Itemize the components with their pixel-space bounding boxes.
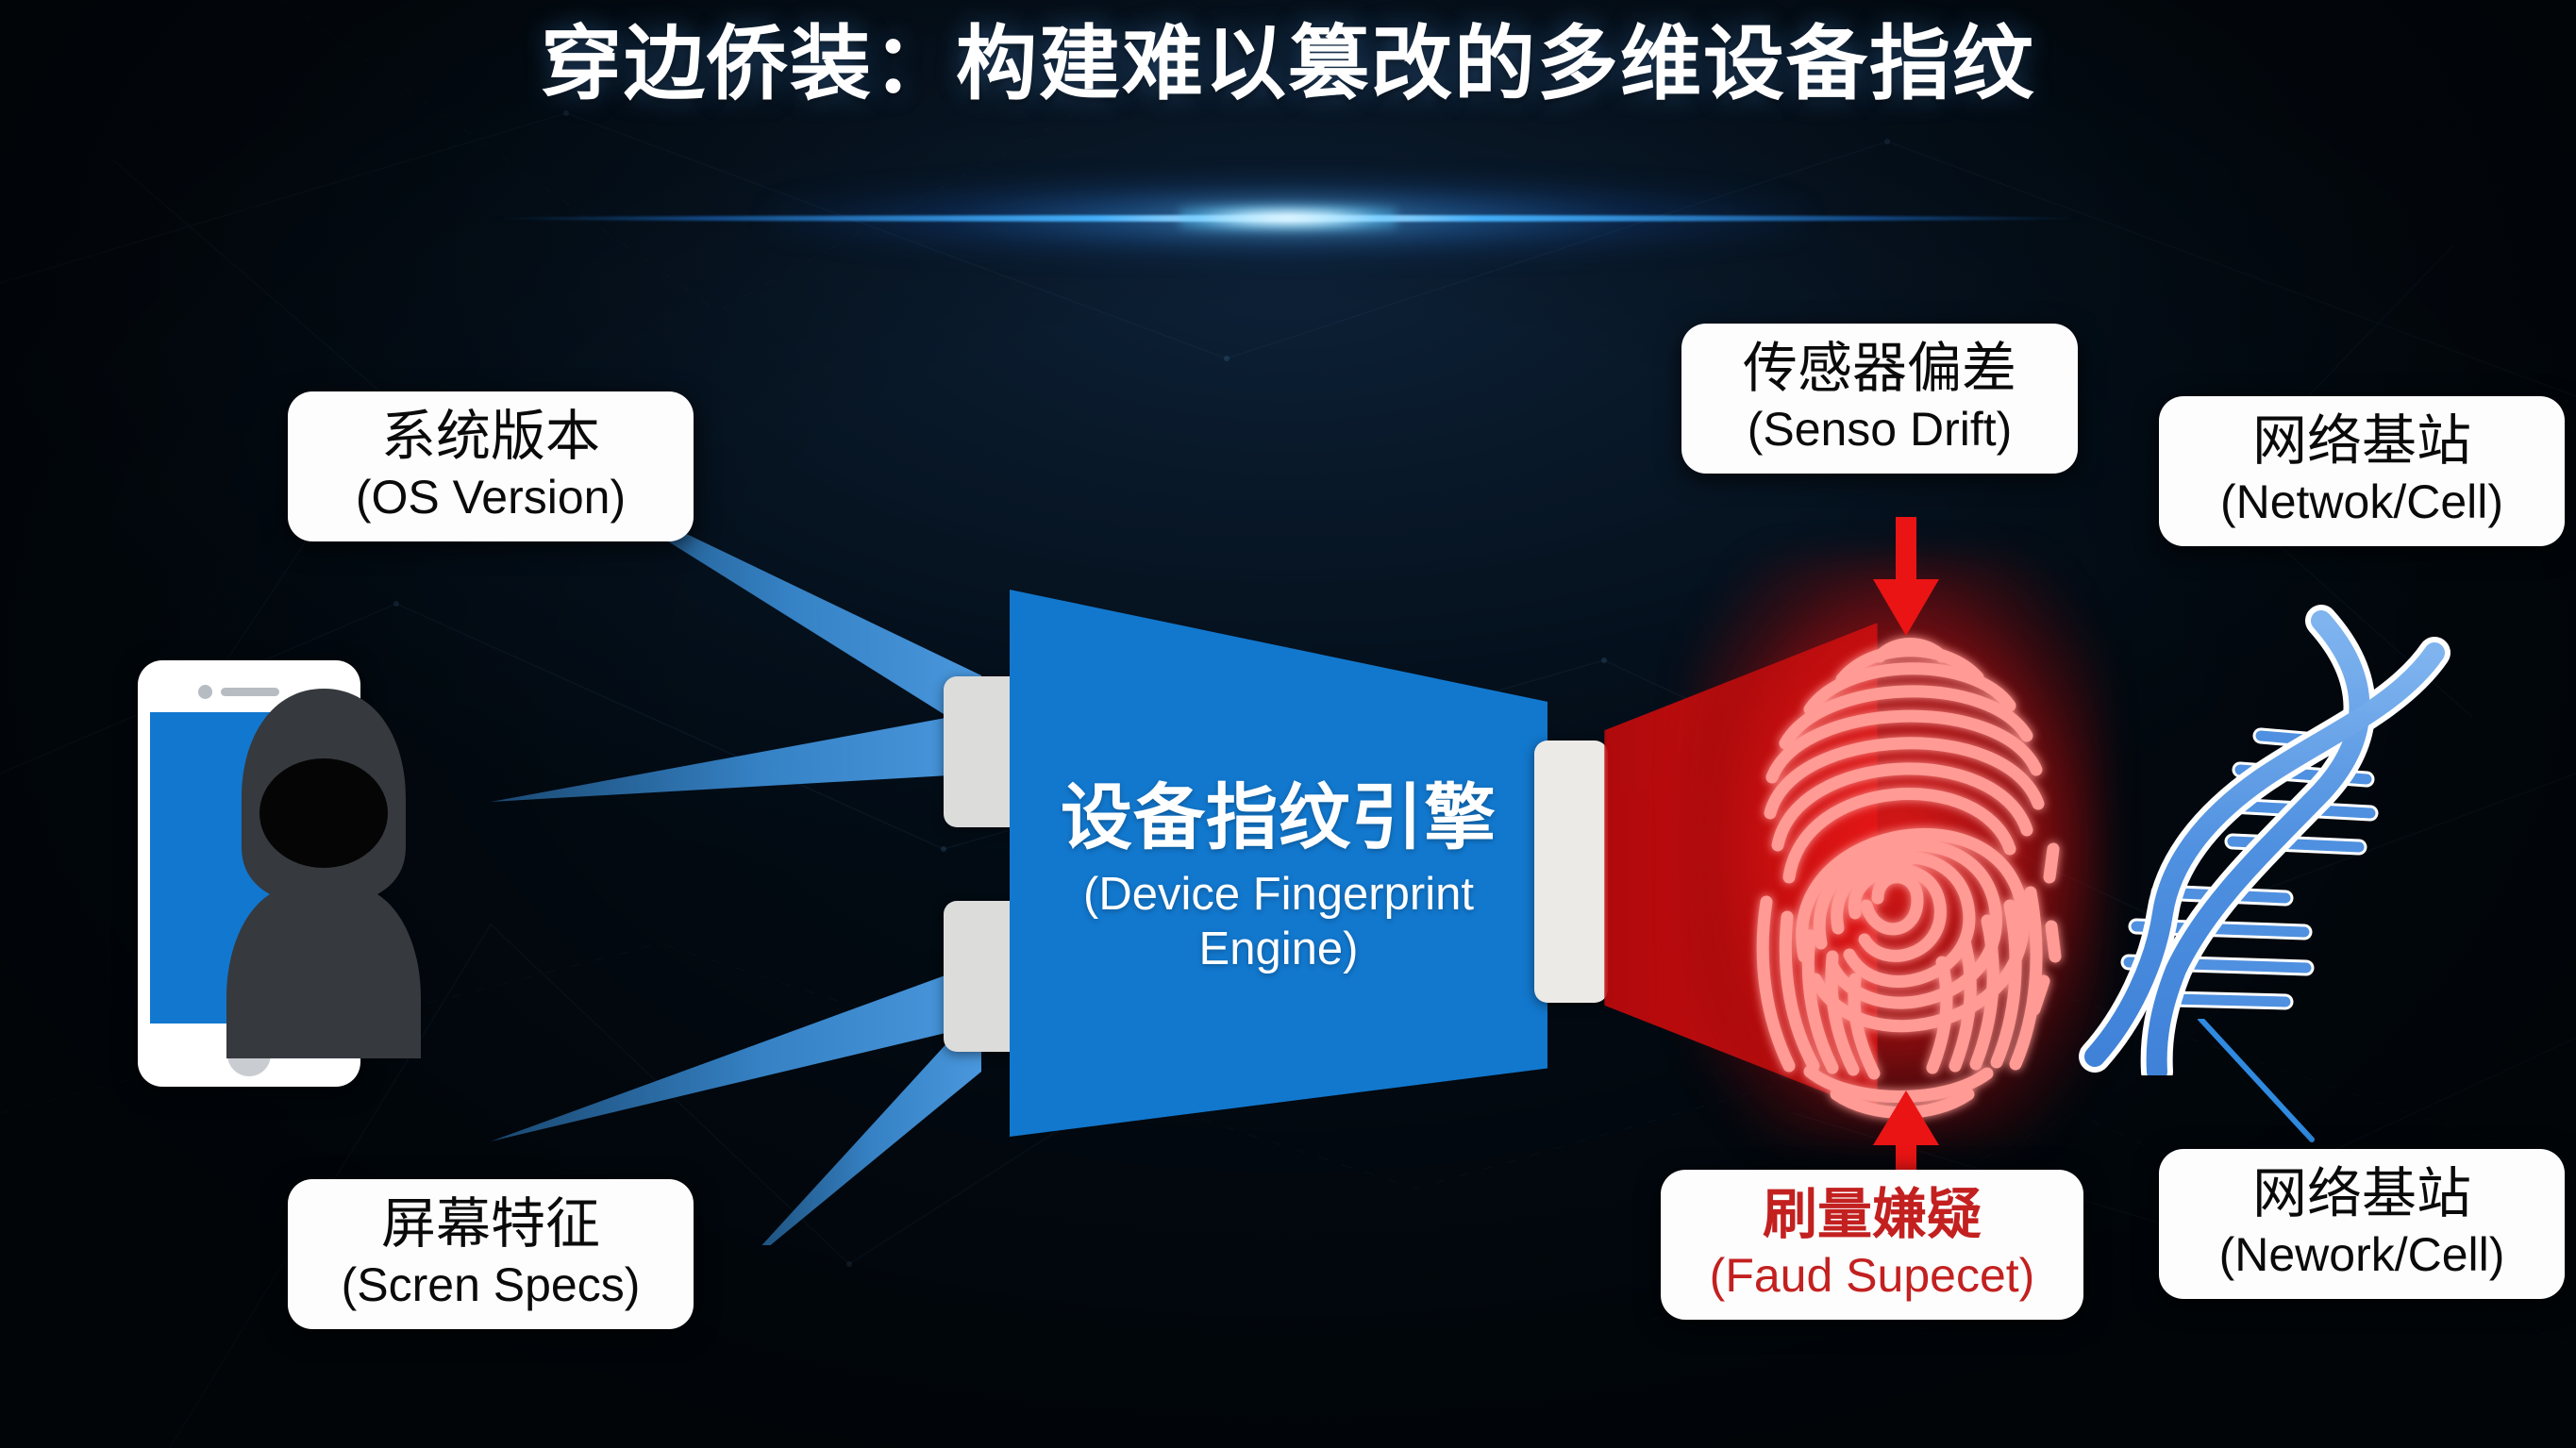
slide-canvas: 穿边侨装：构建难以篡改的多维设备指纹 <box>0 0 2576 1448</box>
label-en: (Faud Supecet) <box>1685 1249 2059 1303</box>
label-en: (OS Version) <box>312 471 669 524</box>
label-card-fraud-suspect[interactable]: 刷量嫌疑 (Faud Supecet) <box>1661 1170 2083 1320</box>
arrow-down-icon <box>1835 517 1977 640</box>
engine-label: 设备指纹引擎 (Device Fingerprint Engine) <box>1010 590 1547 1137</box>
phone-camera-icon <box>198 685 212 699</box>
hooded-figure-icon <box>215 681 432 1058</box>
label-cn: 系统版本 <box>312 405 669 469</box>
device-fingerprint-engine[interactable]: 设备指纹引擎 (Device Fingerprint Engine) <box>953 590 1632 1137</box>
title-glow-core <box>1179 206 1397 230</box>
label-card-sensor-drift[interactable]: 传感器偏差 (Senso Drift) <box>1681 324 2078 474</box>
page-title: 穿边侨装：构建难以篡改的多维设备指纹 <box>0 21 2576 108</box>
label-card-network-cell-top[interactable]: 网络基站 (Netwok/Cell) <box>2159 396 2565 546</box>
label-cn: 网络基站 <box>2183 1162 2540 1226</box>
label-card-network-cell-bottom[interactable]: 网络基站 (Nework/Cell) <box>2159 1149 2565 1299</box>
label-card-screen-specs[interactable]: 屏幕特征 (Scren Specs) <box>288 1179 694 1329</box>
label-cn: 屏幕特征 <box>312 1192 669 1257</box>
dna-helix-icon <box>2038 594 2453 1075</box>
engine-label-en: (Device Fingerprint Engine) <box>1080 868 1477 977</box>
label-en: (Scren Specs) <box>312 1258 669 1312</box>
label-cn: 网络基站 <box>2183 409 2540 474</box>
label-en: (Senso Drift) <box>1706 403 2053 457</box>
label-cn: 刷量嫌疑 <box>1685 1183 2059 1247</box>
label-cn: 传感器偏差 <box>1706 337 2053 401</box>
engine-label-cn: 设备指纹引擎 <box>1061 781 1497 857</box>
label-en: (Netwok/Cell) <box>2183 475 2540 529</box>
label-en: (Nework/Cell) <box>2183 1228 2540 1282</box>
label-card-os-version[interactable]: 系统版本 (OS Version) <box>288 391 694 541</box>
